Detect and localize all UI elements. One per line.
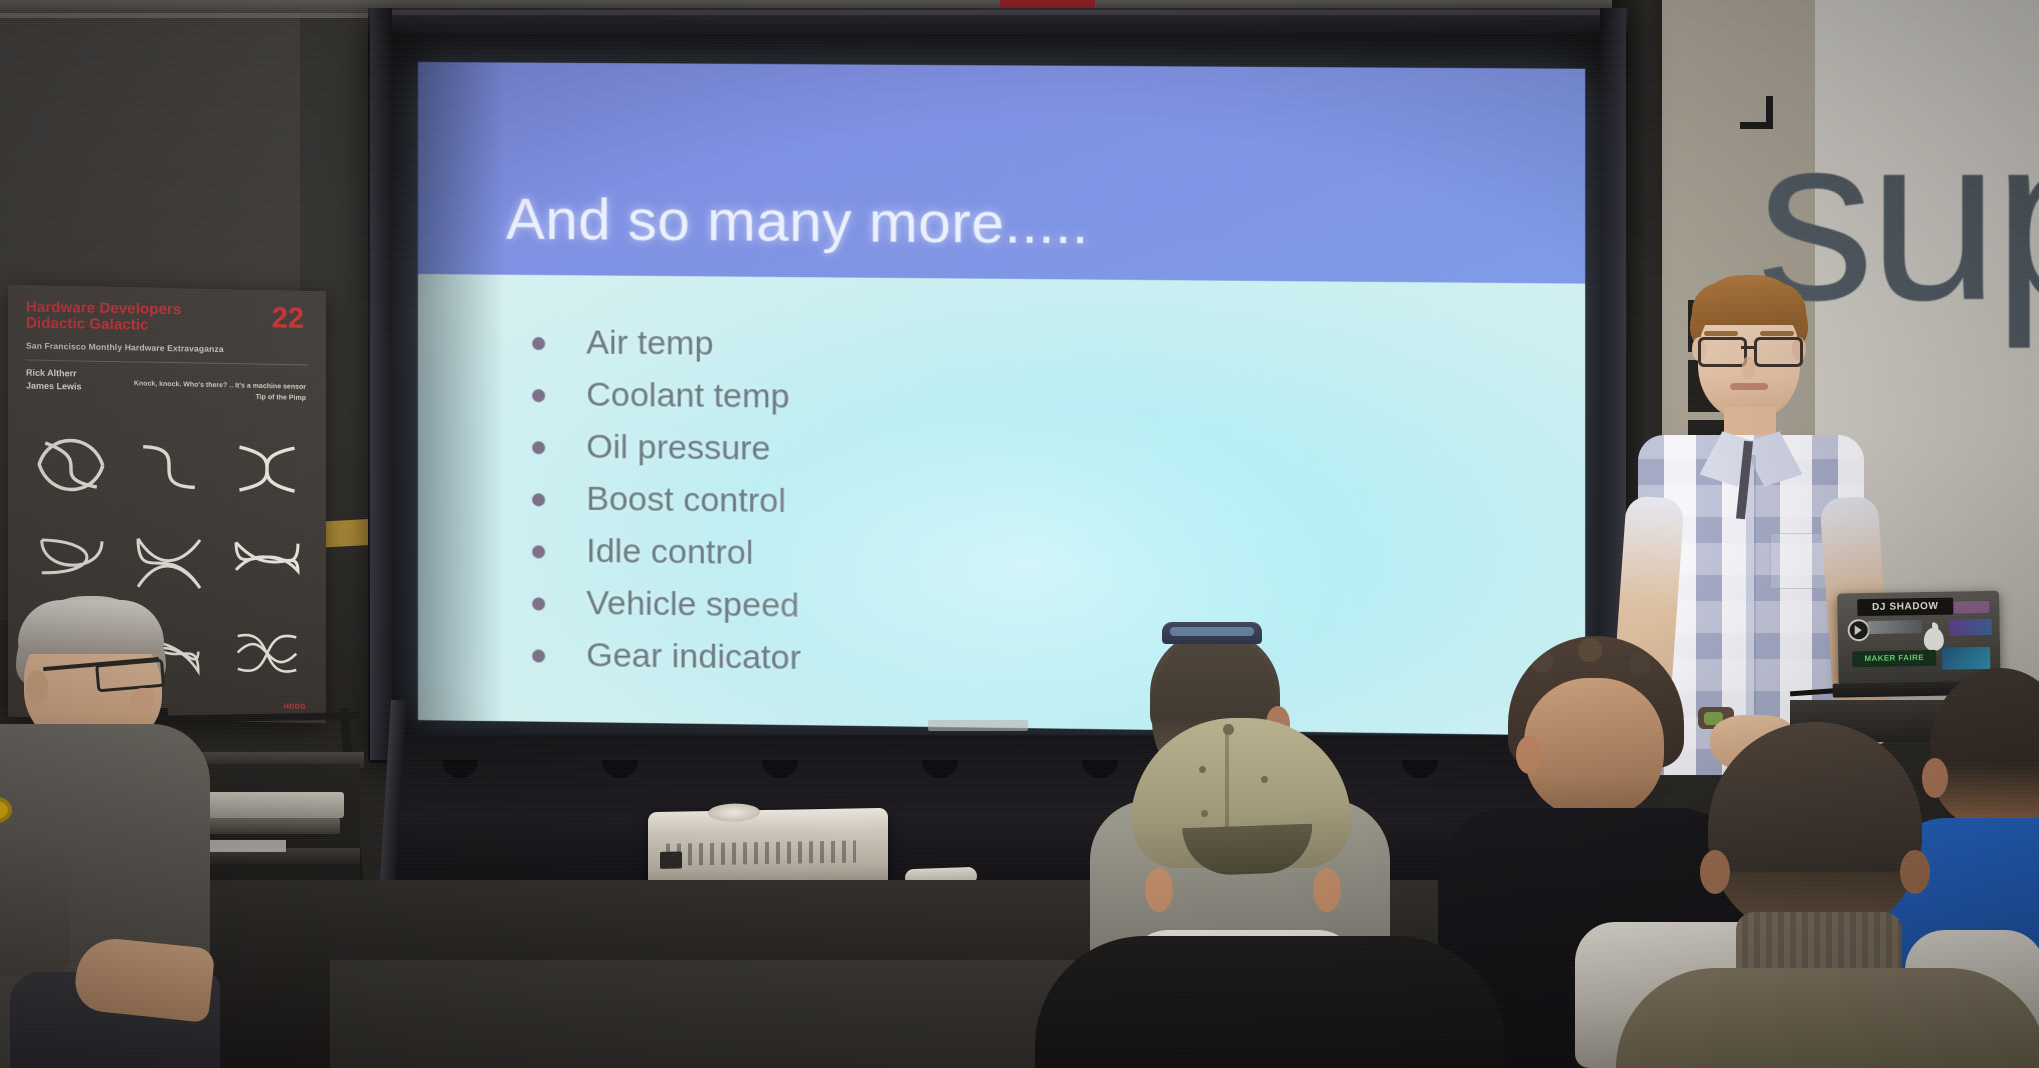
laptop-sticker-dj-shadow-text: DJ SHADOW bbox=[1872, 601, 1939, 613]
ear-left bbox=[1700, 850, 1730, 894]
apple-logo-icon bbox=[1924, 628, 1944, 651]
presenter-shirt-pocket bbox=[1770, 533, 1828, 589]
bullet-dot-icon bbox=[532, 441, 545, 454]
bullet-dot-icon bbox=[532, 597, 545, 610]
sleeve bbox=[0, 846, 70, 976]
poster-heading: Hardware Developers Didactic Galactic bbox=[26, 300, 308, 337]
hair-top bbox=[18, 600, 164, 654]
bullet-text: Air temp bbox=[586, 323, 713, 362]
bullet-dot-icon bbox=[532, 389, 545, 402]
laptop-sticker-blue bbox=[1942, 647, 1990, 670]
screen-brand-logo bbox=[928, 720, 1028, 731]
presenter-mouth bbox=[1730, 383, 1768, 390]
presenter-nose bbox=[1742, 357, 1755, 379]
sunglasses-icon bbox=[1162, 622, 1262, 644]
lissajous-icon-3 bbox=[224, 429, 310, 509]
arm bbox=[73, 935, 216, 1023]
cap-eyelet bbox=[1261, 776, 1268, 783]
laptop-sticker-bar bbox=[1868, 620, 1922, 634]
screen-frame-highlight bbox=[380, 10, 1620, 15]
glasses-lens-right bbox=[1754, 337, 1803, 367]
ear bbox=[1516, 736, 1542, 774]
lissajous-icon-6 bbox=[224, 521, 310, 601]
laptop-sticker-green-text: MAKER FAIRE bbox=[1852, 650, 1936, 667]
projector-port bbox=[660, 852, 682, 869]
laptop-sticker-pink bbox=[1949, 601, 1989, 614]
lissajous-icon-5 bbox=[126, 519, 212, 599]
list-item: Oil pressure bbox=[514, 429, 801, 466]
bullet-dot-icon bbox=[532, 649, 545, 662]
ear-left bbox=[1145, 868, 1173, 912]
poster-issue-number: 22 bbox=[272, 304, 304, 334]
hair bbox=[1708, 722, 1922, 872]
bullet-text: Boost control bbox=[586, 480, 786, 520]
cap-eyelet bbox=[1199, 766, 1206, 773]
bullet-text: Idle control bbox=[586, 532, 753, 572]
nose bbox=[130, 688, 154, 712]
presenter-shirt-placket bbox=[1746, 455, 1756, 755]
poster-meta: Knock, knock. Who's there? .. It's a mac… bbox=[124, 379, 306, 404]
poster-subtitle: San Francisco Monthly Hardware Extravaga… bbox=[26, 341, 308, 356]
lissajous-icon-4 bbox=[28, 517, 114, 597]
ear-right bbox=[1900, 850, 1930, 894]
bullet-text: Oil pressure bbox=[586, 428, 770, 468]
head bbox=[1524, 678, 1664, 818]
laptop-sticker-play-icon bbox=[1848, 619, 1870, 641]
projector-vent bbox=[666, 840, 856, 865]
cap-brim bbox=[1182, 824, 1314, 877]
glasses-lens-left bbox=[1698, 337, 1747, 367]
presentation-room-photo: supp And so many more..... Air temp Cool… bbox=[0, 0, 2039, 1068]
projector-lens-icon bbox=[708, 803, 760, 822]
list-item: Boost control bbox=[514, 481, 801, 518]
bullet-text: Gear indicator bbox=[586, 636, 801, 677]
bullet-text: Vehicle speed bbox=[586, 584, 799, 625]
cap-button bbox=[1223, 724, 1234, 735]
projector bbox=[648, 808, 888, 890]
presenter-brow-right bbox=[1760, 331, 1794, 336]
bullet-dot-icon bbox=[532, 493, 545, 506]
cap-eyelet bbox=[1201, 810, 1208, 817]
presenter-brow-left bbox=[1704, 331, 1738, 336]
slide-title: And so many more..... bbox=[506, 186, 1089, 258]
torso bbox=[1035, 936, 1505, 1068]
ear-right bbox=[1313, 868, 1341, 912]
laptop-sticker-green: MAKER FAIRE bbox=[1852, 650, 1936, 667]
list-item: Air temp bbox=[514, 325, 801, 362]
slide-bullet-list: Air temp Coolant temp Oil pressure Boost… bbox=[514, 325, 801, 693]
laptop-sticker-purple bbox=[1950, 619, 1992, 636]
list-item: Gear indicator bbox=[514, 637, 801, 675]
poster-divider bbox=[26, 360, 308, 366]
list-item: Idle control bbox=[514, 533, 801, 570]
list-item: Coolant temp bbox=[514, 377, 801, 414]
projected-slide: And so many more..... Air temp Coolant t… bbox=[418, 62, 1585, 736]
lissajous-icon-1 bbox=[28, 425, 114, 505]
audience-member-turtleneck bbox=[1652, 722, 2012, 1068]
bullet-text: Coolant temp bbox=[586, 376, 789, 416]
audience-member-seated-left bbox=[0, 596, 250, 1068]
bullet-dot-icon bbox=[532, 545, 545, 558]
glasses-bridge bbox=[1741, 346, 1754, 349]
lissajous-icon-2 bbox=[126, 427, 212, 507]
list-item: Vehicle speed bbox=[514, 585, 801, 623]
laptop-sticker-dj-shadow: DJ SHADOW bbox=[1857, 598, 1953, 617]
presenter-hair-front bbox=[1692, 283, 1806, 325]
audience-member-cap bbox=[1105, 718, 1435, 1068]
bullet-dot-icon bbox=[532, 337, 545, 350]
screen-frame-left-post bbox=[370, 8, 392, 760]
torso bbox=[1616, 968, 2039, 1068]
